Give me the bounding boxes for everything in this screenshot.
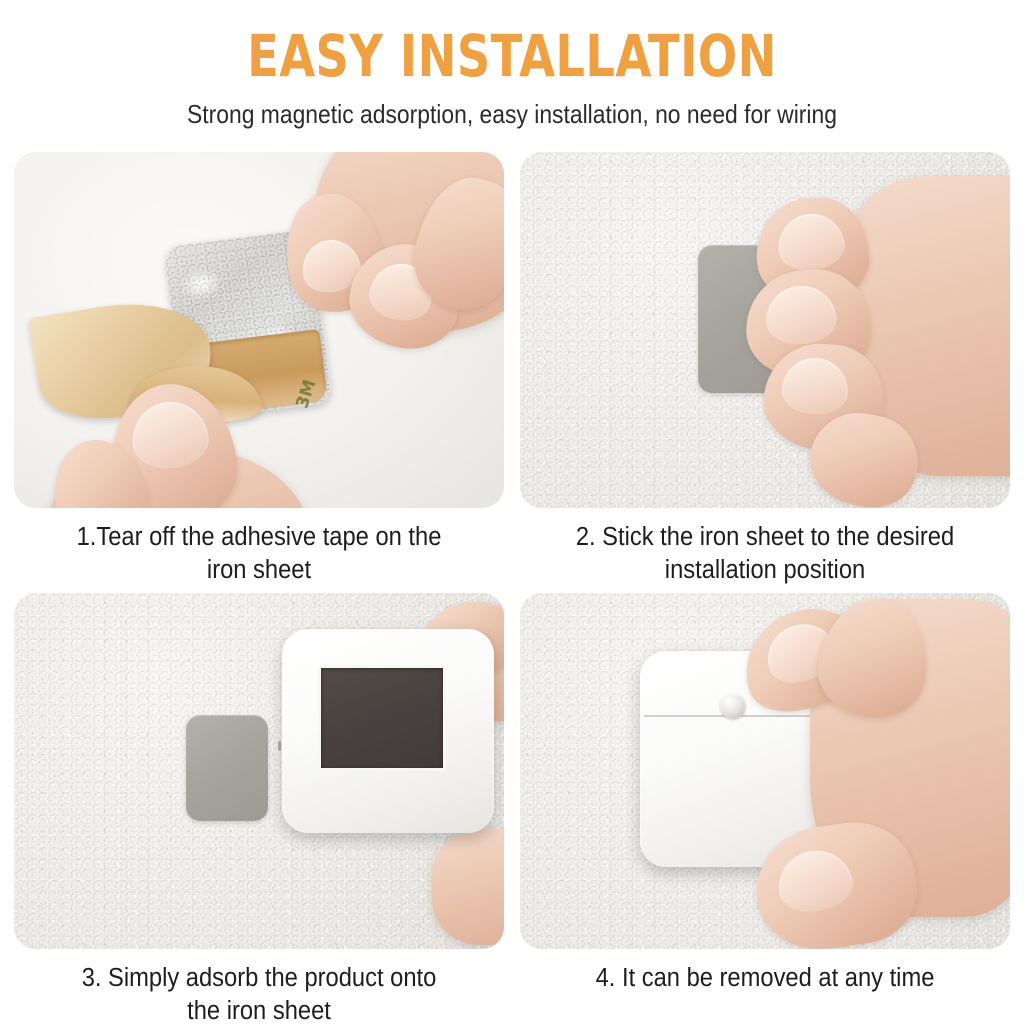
step-2-caption: 2. Stick the iron sheet to the desired i… [537,521,993,587]
step-1-caption: 1.Tear off the adhesive tape on the iron… [31,521,487,587]
night-light-display [318,665,446,771]
step-4-caption: 4. It can be removed at any time [537,962,993,995]
step-4: 4. It can be removed at any time [520,593,1010,1028]
installation-steps-grid: 3M 1.Tear off the adhesive tape on the i… [0,152,1024,1029]
step-2-photo [520,152,1010,508]
step-4-photo [520,593,1010,949]
iron-sheet-mounted [186,715,268,821]
night-light-side-slot [278,741,281,751]
step-3-photo [14,593,504,949]
header: EASY INSTALLATION Strong magnetic adsorp… [0,0,1024,130]
page-subtitle: Strong magnetic adsorption, easy install… [61,99,962,130]
step-1-photo: 3M [14,152,504,508]
step-3: 3. Simply adsorb the product onto the ir… [14,593,504,1028]
step-1: 3M 1.Tear off the adhesive tape on the i… [14,152,504,587]
page-title: EASY INSTALLATION [102,26,921,87]
step-3-caption: 3. Simply adsorb the product onto the ir… [31,962,487,1028]
step-2: 2. Stick the iron sheet to the desired i… [520,152,1010,587]
hand-fingers-bottom [432,829,504,945]
